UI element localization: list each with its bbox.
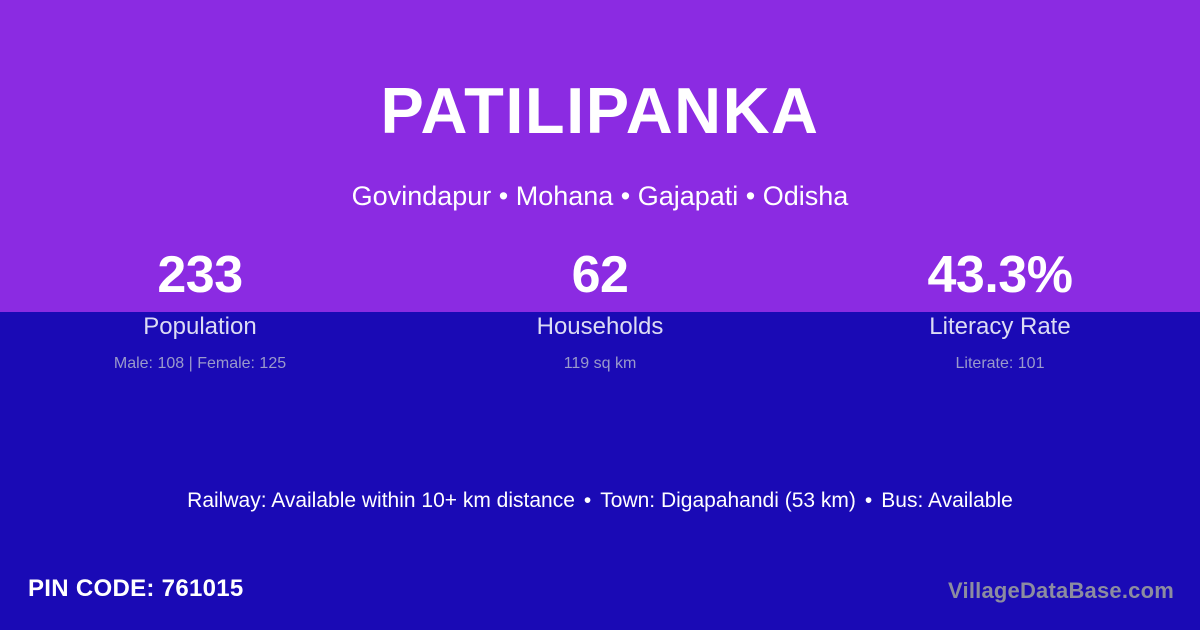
footer: PIN CODE: 761015 VillageDataBase.com [0,573,1200,613]
amenity-railway: Railway: Available within 10+ km distanc… [187,489,575,512]
stat-value-households: 62 [400,246,800,308]
stats-row: 233 Population Male: 108 | Female: 125 6… [0,246,1200,375]
amenity-bus: Bus: Available [881,489,1013,512]
amenity-town: Town: Digapahandi (53 km) [600,489,856,512]
stat-block-literacy: 43.3% Literacy Rate Literate: 101 [800,246,1200,375]
stat-label-population: Population [0,312,400,342]
site-brand-label: VillageDataBase.com [948,576,1174,606]
amenity-separator-icon: • [856,487,881,515]
stat-sublabel-literacy: Literate: 101 [800,353,1200,375]
stat-block-population: 233 Population Male: 108 | Female: 125 [0,246,400,375]
stat-sublabel-population: Male: 108 | Female: 125 [0,353,400,375]
stat-value-literacy: 43.3% [800,246,1200,308]
pin-code-label: PIN CODE: 761015 [28,573,244,605]
amenity-separator-icon: • [575,487,600,515]
amenities-row: Railway: Available within 10+ km distanc… [0,487,1200,515]
breadcrumb: Govindapur • Mohana • Gajapati • Odisha [0,182,1200,212]
stat-label-households: Households [400,312,800,342]
stat-sublabel-households: 119 sq km [400,353,800,375]
stat-block-households: 62 Households 119 sq km [400,246,800,375]
stat-label-literacy: Literacy Rate [800,312,1200,342]
village-info-card: PATILIPANKA Govindapur • Mohana • Gajapa… [0,0,1200,630]
stat-value-population: 233 [0,246,400,308]
page-title: PATILIPANKA [0,78,1200,143]
